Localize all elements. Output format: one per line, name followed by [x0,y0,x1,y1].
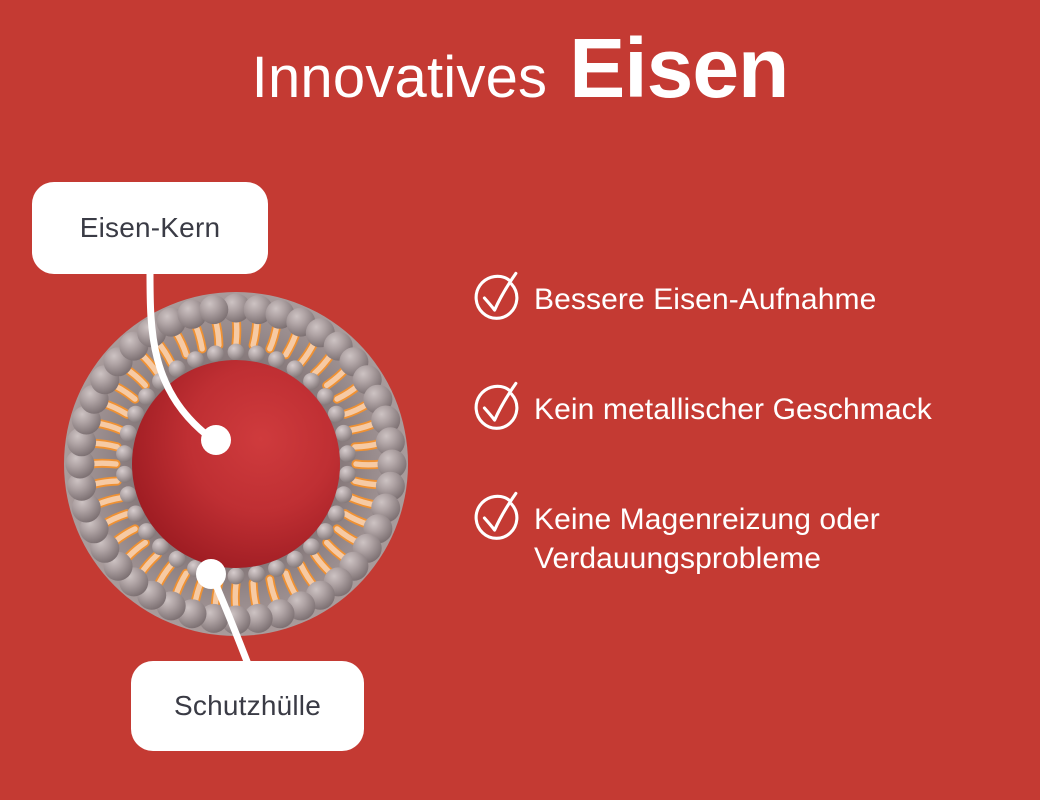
lipid-head-inner [120,425,137,442]
lipid-head-inner [187,560,204,577]
callout-schutzhuelle-label: Schutzhülle [174,690,321,722]
benefit-item: Bessere Eisen-Aufnahme [468,272,1028,328]
liposome-svg [40,268,432,660]
circle-check-icon [468,270,526,328]
lipid-head-inner [248,566,265,583]
circle-check-icon [468,490,526,548]
lipid-head-inner [207,346,224,363]
lipid-head-inner [127,506,144,523]
callout-eisen-kern-label: Eisen-Kern [80,212,221,244]
iron-core [132,360,340,568]
lipid-head-inner [248,346,265,363]
lipid-head-inner [328,406,345,423]
benefit-line: Keine Magenreizung oder [534,503,880,536]
benefit-text: Keine Magenreizung oder Verdauungsproble… [534,492,880,578]
lipid-head-inner [187,351,204,368]
lipid-head-inner [335,486,352,503]
lipid-head-inner [116,466,133,483]
lipid-head-inner [127,406,144,423]
benefit-text: Bessere Eisen-Aufnahme [534,272,876,319]
lipid-head-inner [268,560,285,577]
lipid-head-inner [328,506,345,523]
benefit-item: Keine Magenreizung oder Verdauungsproble… [468,492,1028,578]
benefit-line: Verdauungsprobleme [534,542,821,575]
lipid-head-inner [268,351,285,368]
callout-eisen-kern[interactable]: Eisen-Kern [32,182,268,274]
page-title: InnovativesEisen [0,26,1040,110]
lipid-head-inner [207,566,224,583]
liposome-illustration [40,268,432,660]
infographic-poster: InnovativesEisen [0,0,1040,800]
lipid-head-inner [228,344,245,361]
circle-check-icon [468,380,526,438]
lipid-head-outer [199,295,228,324]
benefit-line: Kein metallischer Geschmack [534,393,932,426]
benefit-line: Bessere Eisen-Aufnahme [534,283,876,316]
benefits-list: Bessere Eisen-Aufnahme Kein metallischer… [468,272,1028,578]
lipid-head-inner [116,445,133,462]
lipid-head-inner [339,466,356,483]
lipid-head-inner [339,445,356,462]
lipid-head-inner [335,425,352,442]
benefit-item: Kein metallischer Geschmack [468,382,1028,438]
lipid-head-inner [228,568,245,585]
callout-schutzhuelle[interactable]: Schutzhülle [131,661,364,751]
title-bold-word: Eisen [569,26,788,110]
benefit-text: Kein metallischer Geschmack [534,382,932,429]
lipid-head-inner [120,486,137,503]
title-light-word: Innovatives [252,49,548,107]
